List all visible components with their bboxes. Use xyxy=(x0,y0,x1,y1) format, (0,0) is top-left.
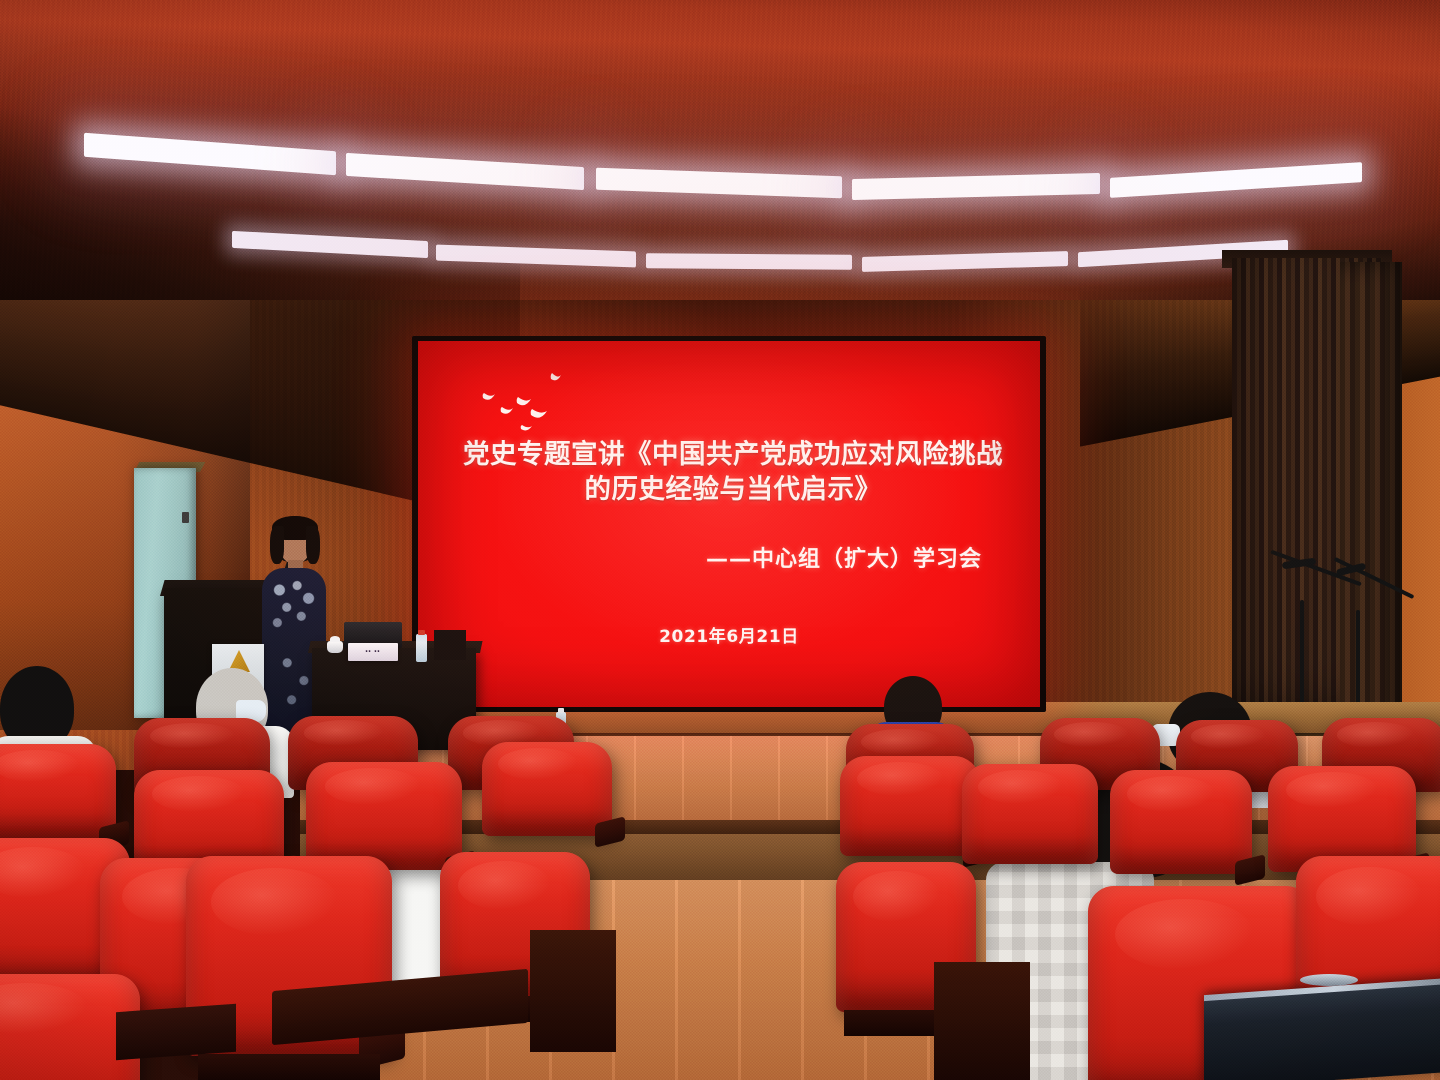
auditorium-seat[interactable] xyxy=(0,744,116,840)
name-card: •• •• xyxy=(348,643,398,661)
presenter-dress-pattern xyxy=(268,574,320,638)
auditorium-seat[interactable] xyxy=(1110,770,1252,874)
ceiling-lamp xyxy=(646,253,852,269)
led-screen[interactable]: 党史专题宣讲《中国共产党成功应对风险挑战的历史经验与当代启示》 ——中心组（扩大… xyxy=(418,341,1040,707)
auditorium-seat[interactable] xyxy=(962,764,1098,864)
led-screen-vignette xyxy=(418,341,1040,707)
door-handle-icon[interactable] xyxy=(182,512,189,523)
presenter-hair-right xyxy=(306,526,320,564)
seat-arm-desk xyxy=(530,930,616,1052)
seat-arm-desk xyxy=(934,962,1030,1080)
microphone-stand-pole xyxy=(1356,610,1360,710)
curtain-right-panel xyxy=(1340,262,1402,762)
auditorium-seat[interactable] xyxy=(482,742,612,836)
seat-arm-desk xyxy=(116,1004,236,1060)
auditorium-seat[interactable] xyxy=(840,756,980,856)
water-bottle xyxy=(416,634,427,662)
microphone-stand-pole xyxy=(1300,600,1304,710)
table-equipment xyxy=(434,630,466,660)
water-bottle-cap xyxy=(418,630,425,635)
presenter-hair-left xyxy=(270,526,284,564)
photo-scene: 党史专题宣讲《中国共产党成功应对风险挑战的历史经验与当代启示》 ——中心组（扩大… xyxy=(0,0,1440,1080)
foreground-desk-object xyxy=(1300,974,1358,986)
auditorium-seat[interactable] xyxy=(306,762,462,870)
name-card-text: •• •• xyxy=(365,649,380,655)
stage-water-bottle-cap xyxy=(558,708,564,713)
teacup xyxy=(327,641,343,653)
teacup-lid xyxy=(330,636,340,642)
